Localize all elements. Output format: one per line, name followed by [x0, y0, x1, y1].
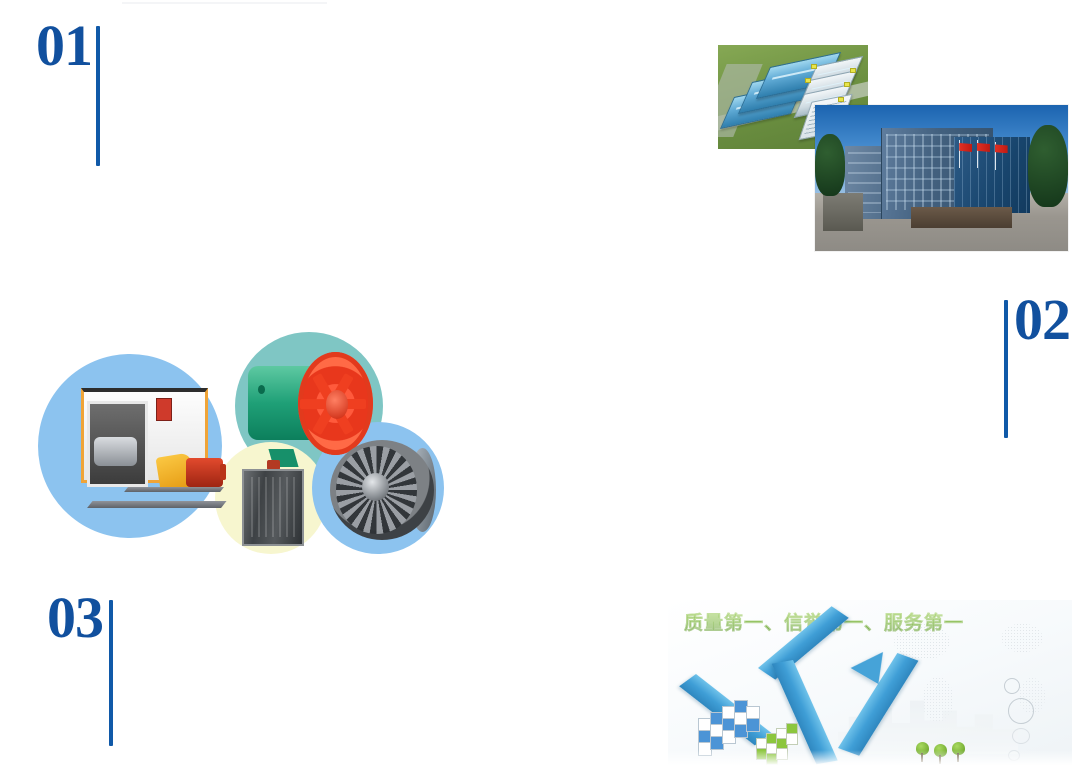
office-front-wall: [911, 207, 1012, 227]
chinese-flag-3: [995, 144, 1008, 153]
cube-cell: [786, 733, 798, 745]
product-collage: [30, 322, 430, 554]
bubble-icon-2: [1008, 698, 1034, 724]
chinese-flag-1: [959, 143, 972, 152]
plant-marker-dot-5: [805, 78, 811, 83]
page-root: 01 02 03: [0, 0, 1074, 772]
blue-cube-icon: [698, 694, 760, 754]
section-bar-01: [96, 26, 100, 166]
bubble-icon-1: [1004, 678, 1020, 694]
metal-axial-fan: [330, 440, 434, 540]
office-building-photo: [815, 105, 1068, 251]
office-tree-right: [1028, 125, 1068, 207]
growth-banner: 质量第一、信誉第一、服务第一: [668, 600, 1072, 772]
bubble-icon-3: [1012, 728, 1030, 744]
box-fan-motor: [186, 458, 223, 487]
chinese-flag-2: [977, 143, 990, 152]
section-number-02: 02: [1014, 296, 1070, 344]
section-marker-02: 02: [1004, 296, 1070, 438]
box-fan-impeller: [94, 437, 137, 466]
box-fan-base-rail-front: [88, 501, 227, 508]
section-bar-03: [109, 600, 113, 746]
section-bar-02: [1004, 300, 1008, 438]
plant-marker-dot-4: [811, 64, 817, 69]
office-tree-left: [815, 134, 845, 195]
section-marker-01: 01: [36, 22, 100, 166]
plant-marker-dot-1: [850, 68, 856, 73]
section-number-03: 03: [47, 594, 103, 642]
factory-photos: [700, 30, 1074, 260]
damper-frame: [242, 469, 304, 546]
section-number-01: 01: [36, 22, 92, 70]
air-damper: [242, 462, 304, 546]
plant-marker-dot-2: [844, 82, 850, 87]
office-gate-house: [823, 193, 863, 231]
plant-marker-dot-3: [838, 97, 844, 102]
box-fan-unit: [68, 380, 228, 510]
banner-floor-fade: [668, 750, 1072, 772]
top-divider-rule: [122, 2, 327, 4]
box-fan-control-panel: [156, 398, 172, 421]
section-marker-03: 03: [47, 594, 113, 746]
box-fan-base-rail-back: [124, 487, 224, 492]
